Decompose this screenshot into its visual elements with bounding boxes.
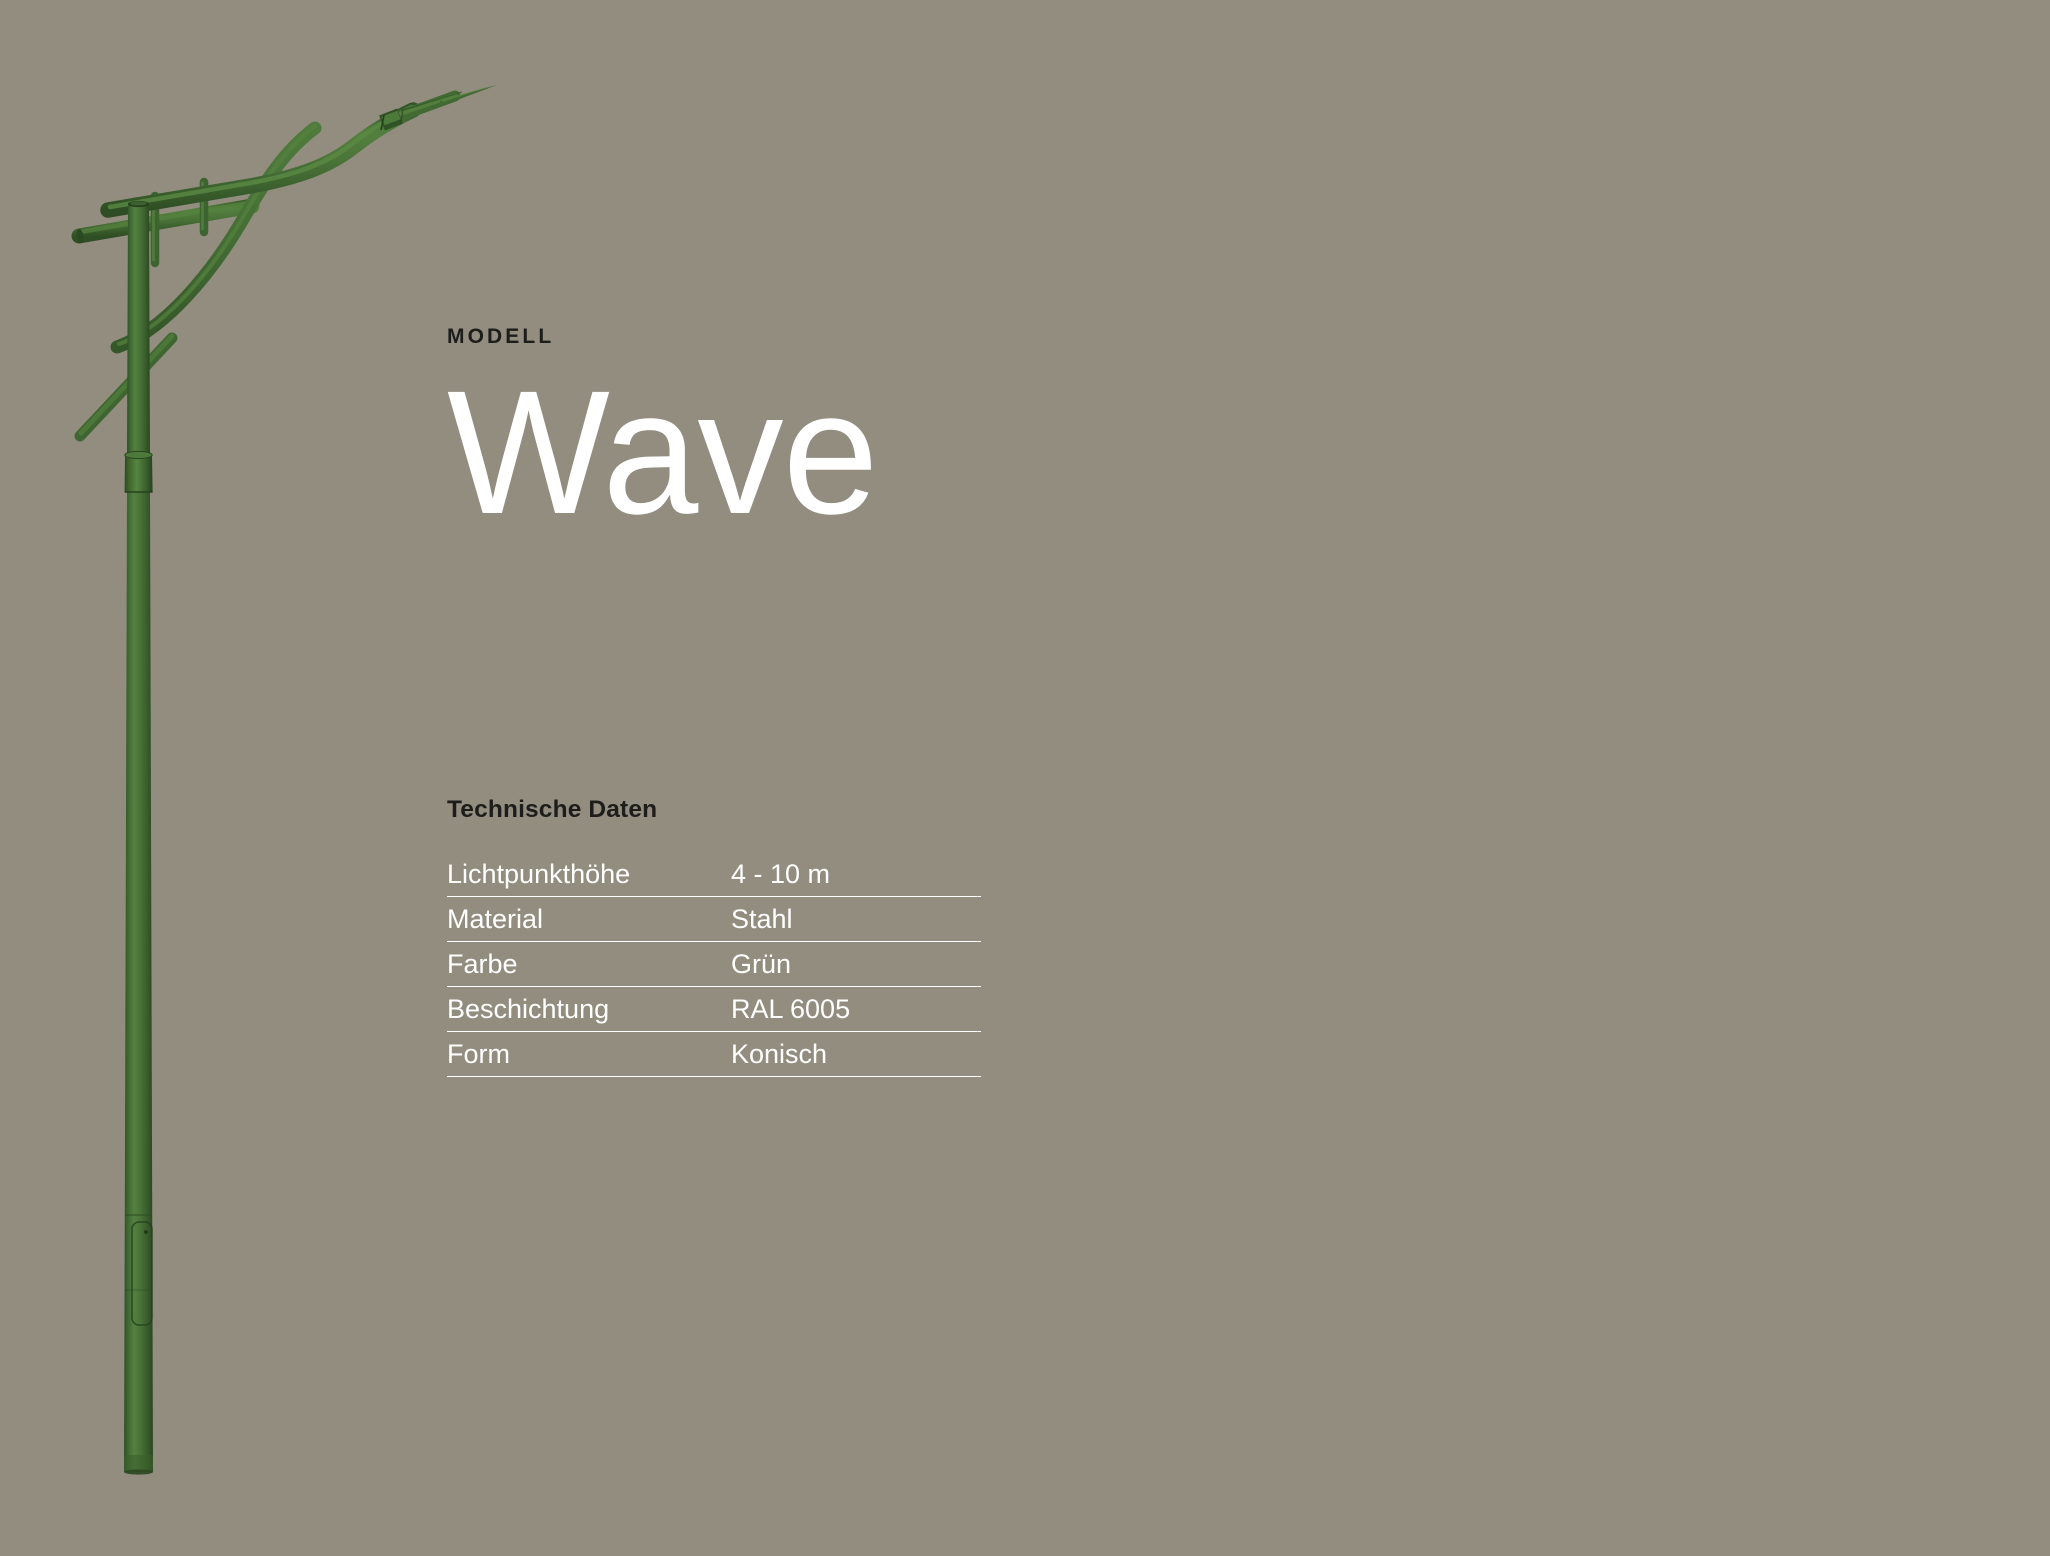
- cross-arm: [75, 203, 252, 244]
- table-row: Farbe Grün: [447, 941, 981, 986]
- main-boom: [108, 85, 497, 210]
- pole-collar-lower: [125, 1215, 152, 1290]
- page-title: Wave: [447, 365, 1623, 541]
- spec-value: Konisch: [731, 1031, 981, 1076]
- table-body: Lichtpunkthöhe 4 - 10 m Material Stahl F…: [447, 861, 981, 1077]
- spec-value: Grün: [731, 941, 981, 986]
- pole-collar-upper: [125, 451, 153, 492]
- pole-shaft: [124, 201, 153, 1475]
- product-datasheet-page: MODELL Wave Technische Daten Lichtpunkth…: [0, 0, 2050, 1556]
- brace-struts: [154, 182, 205, 263]
- spec-value: 4 - 10 m: [731, 861, 981, 897]
- technical-data-section: Technische Daten Lichtpunkthöhe 4 - 10 m…: [447, 798, 981, 1077]
- spec-label: Lichtpunkthöhe: [447, 861, 731, 897]
- spec-value: Stahl: [731, 896, 981, 941]
- title-block: MODELL Wave: [447, 326, 1647, 541]
- table-row: Lichtpunkthöhe 4 - 10 m: [447, 861, 981, 897]
- brace-lower-tail: [80, 336, 172, 436]
- support-brace: [117, 126, 315, 347]
- spec-label: Farbe: [447, 941, 731, 986]
- spec-label: Beschichtung: [447, 986, 731, 1031]
- table-row: Beschichtung RAL 6005: [447, 986, 981, 1031]
- spec-value: RAL 6005: [731, 986, 981, 1031]
- spec-label: Form: [447, 1031, 731, 1076]
- street-lamp-illustration: [0, 0, 760, 1556]
- section-heading: Technische Daten: [447, 798, 981, 823]
- pole-access-door: [132, 1222, 152, 1325]
- table-row: Material Stahl: [447, 896, 981, 941]
- eyebrow-label: MODELL: [447, 326, 1647, 347]
- spec-label: Material: [447, 896, 731, 941]
- technical-data-table: Lichtpunkthöhe 4 - 10 m Material Stahl F…: [447, 861, 981, 1077]
- table-row: Form Konisch: [447, 1031, 981, 1076]
